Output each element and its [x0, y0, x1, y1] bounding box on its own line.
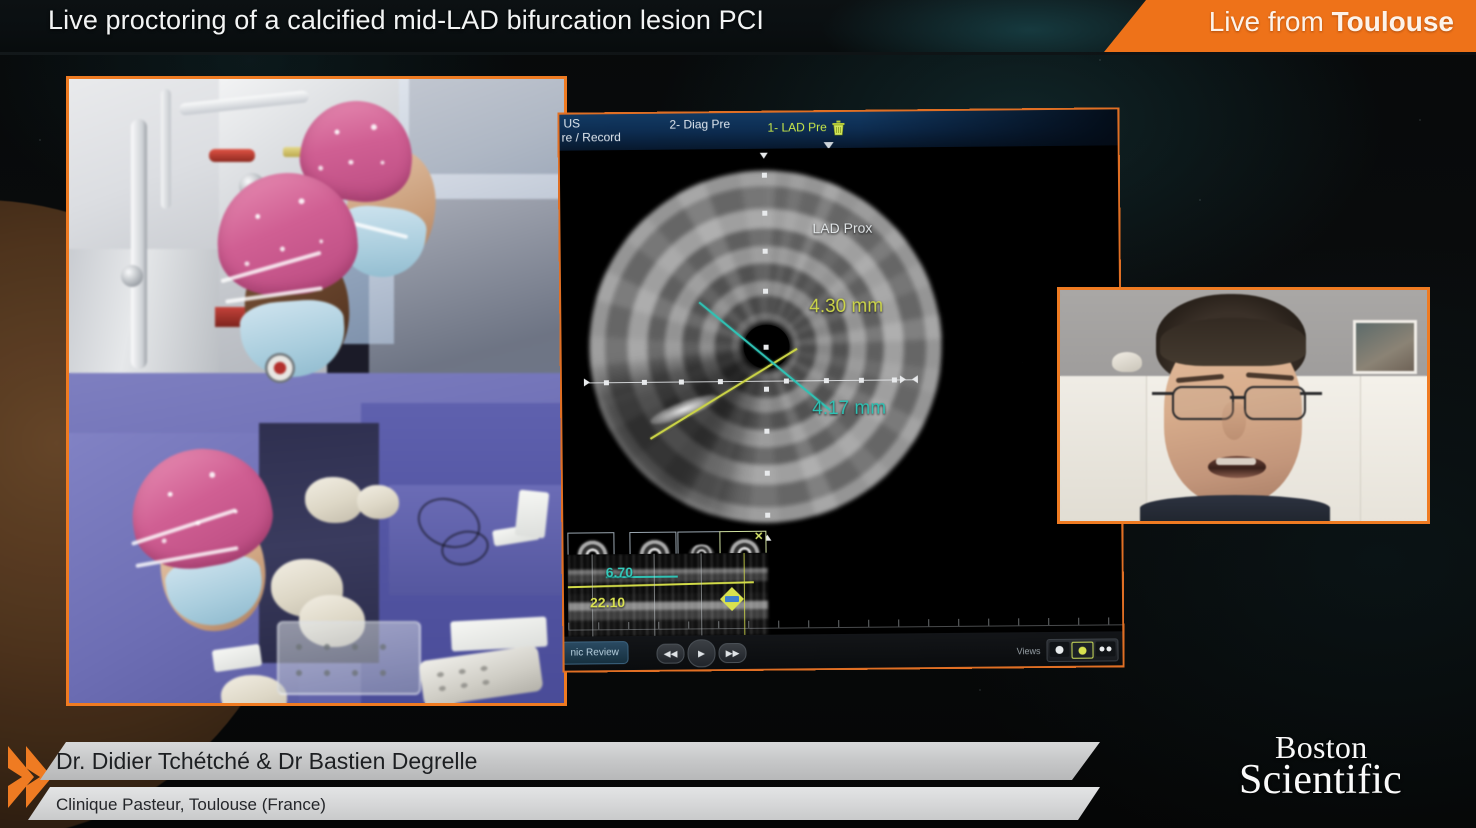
ruler-tick [764, 345, 769, 350]
ruler-tick [892, 377, 897, 382]
ivus-menu-bar-fade [859, 109, 1121, 148]
live-prefix: Live from [1209, 6, 1332, 37]
ruler-tick [679, 380, 684, 385]
ivus-longitudinal-view[interactable]: 6.70 22.10 [568, 549, 1123, 636]
page-title: Live proctoring of a calcified mid-LAD b… [48, 5, 764, 36]
play-icon[interactable]: ▶ [687, 639, 715, 667]
ruler-tick [859, 378, 864, 383]
broadcast-screen: Live proctoring of a calcified mid-LAD b… [0, 0, 1476, 828]
ivus-system-label: US [563, 116, 580, 130]
affiliation-text: Clinique Pasteur, Toulouse (France) [56, 795, 326, 815]
header-bar: Live proctoring of a calcified mid-LAD b… [0, 0, 1476, 52]
ivus-run-tab-1[interactable]: 1- LAD Pre [767, 120, 826, 135]
webcam-blur [1060, 290, 1427, 521]
circle-view-icon[interactable] [1049, 642, 1069, 657]
ruler-tick [718, 379, 723, 384]
fast-forward-icon[interactable]: ▶▶ [718, 643, 746, 663]
ruler-tick [900, 375, 906, 383]
close-icon[interactable]: ✕ [754, 532, 763, 542]
review-button[interactable]: nic Review [560, 641, 629, 665]
playback-controls[interactable]: ◀◀ ▶ ▶▶ [656, 639, 746, 668]
longitudinal-length-teal: 6.70 [606, 564, 633, 580]
ruler-tick [763, 249, 768, 254]
ivus-mode-tab[interactable]: re / Record [561, 130, 620, 145]
measurement-label-yellow: 4.30 mm [809, 296, 883, 319]
segment-label: LAD Prox [812, 220, 872, 237]
ruler-tick [912, 375, 918, 383]
ruler-tick [824, 378, 829, 383]
longitudinal-length-yellow: 22.10 [590, 594, 625, 610]
trash-icon[interactable] [831, 120, 845, 136]
live-location-label: Live from Toulouse [1209, 6, 1454, 38]
view-buttons-group[interactable] [1046, 638, 1118, 662]
measurement-label-teal: 4.17 mm [812, 398, 886, 421]
ivus-run-tab-2[interactable]: 2- Diag Pre [669, 117, 730, 132]
or-focus-blur [69, 79, 564, 703]
or-scene [69, 79, 564, 703]
header-divider [0, 52, 1476, 55]
ruler-tick [764, 429, 769, 434]
rewind-icon[interactable]: ◀◀ [656, 644, 684, 664]
ruler-tick [642, 380, 647, 385]
ruler-tick [763, 289, 768, 294]
ruler-tick [784, 378, 789, 383]
ruler-tick [762, 173, 767, 178]
highlight-view-icon[interactable] [1071, 642, 1093, 659]
ruler-tick [604, 380, 609, 385]
remote-presenter-webcam[interactable] [1057, 287, 1430, 524]
lower-third-banner: Dr. Didier Tchétché & Dr Bastien Degrell… [0, 732, 1476, 828]
logo-line-2: Scientific [1239, 762, 1402, 798]
ruler-tick [760, 153, 768, 159]
presenter-names: Dr. Didier Tchétché & Dr Bastien Degrell… [56, 748, 477, 775]
ruler-tick [584, 378, 590, 386]
ruler-tick [765, 513, 770, 518]
live-city: Toulouse [1332, 6, 1454, 37]
boston-scientific-logo: Boston Scientific [1239, 734, 1402, 798]
dual-view-icon[interactable] [1095, 641, 1115, 656]
ruler-tick [764, 387, 769, 392]
ruler-tick [762, 211, 767, 216]
frame-position-handle[interactable] [720, 587, 744, 611]
operating-room-video[interactable] [66, 76, 567, 706]
view-mode-switcher[interactable]: Views [1017, 638, 1119, 662]
ruler-tick [765, 471, 770, 476]
ivus-cross-section-view[interactable]: 4.30 mm 4.17 mm LAD Prox [560, 145, 1125, 550]
views-label: Views [1017, 646, 1041, 656]
ivus-console-screen[interactable]: US re / Record 2- Diag Pre 1- LAD Pre [557, 107, 1124, 672]
ivus-toolbar: nic Review ◀◀ ▶ ▶▶ Views [564, 631, 1124, 670]
